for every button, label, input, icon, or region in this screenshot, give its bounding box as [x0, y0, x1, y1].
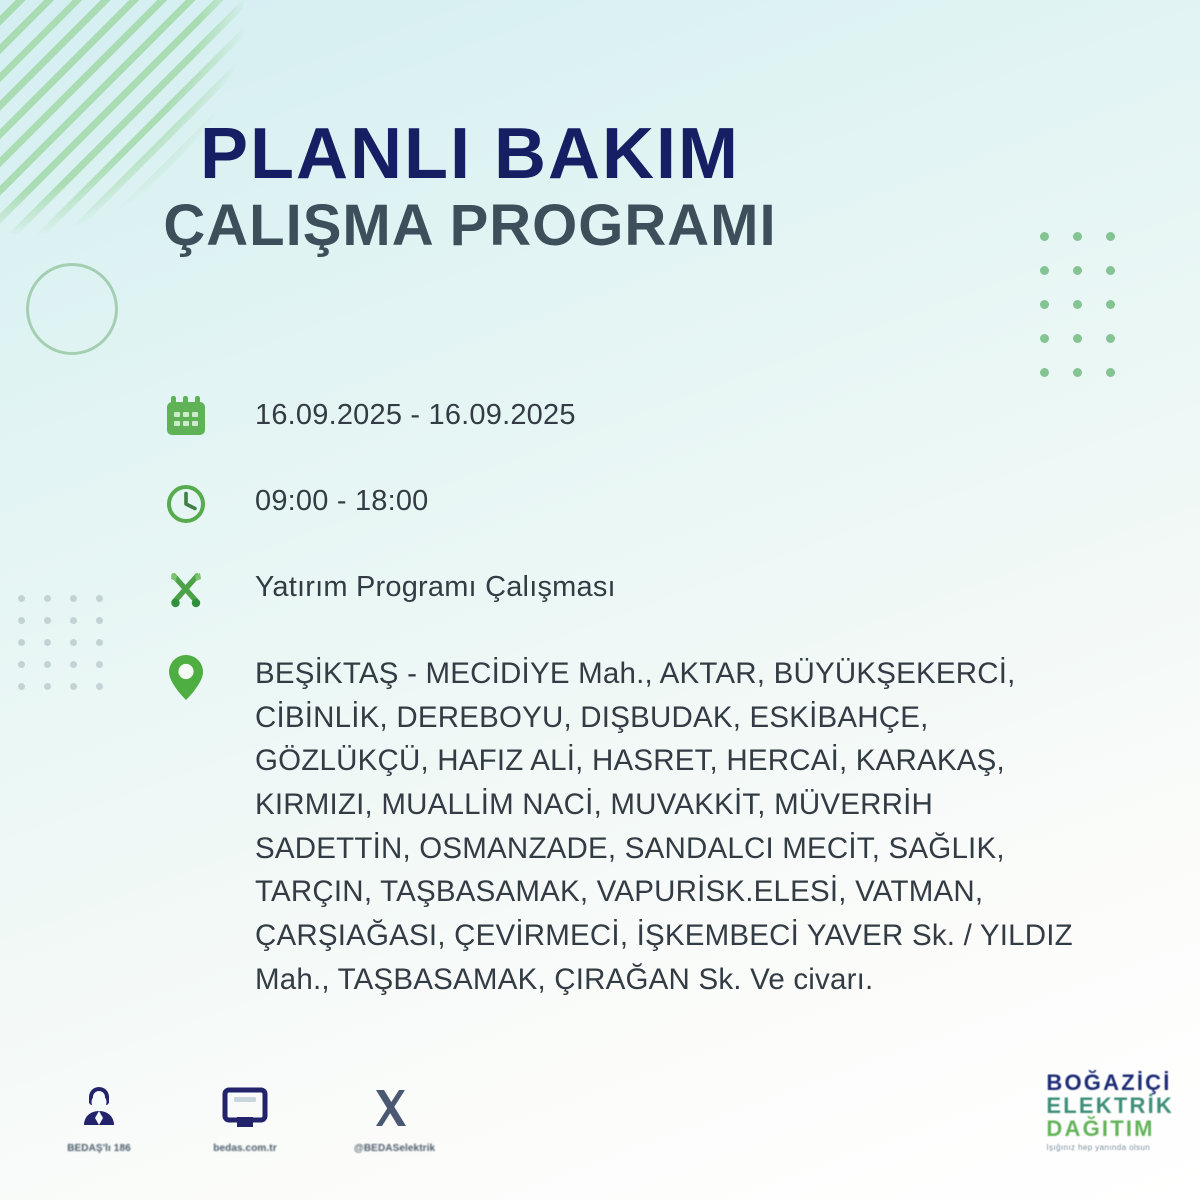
x-twitter-label: @BEDASelektrik	[354, 1143, 428, 1154]
footer: BEDAŞ'lı 186 bedas.com.tr	[0, 1078, 1200, 1200]
circle-outline-decoration	[26, 263, 118, 355]
location-pin-icon	[163, 650, 255, 706]
address-line: ÇARŞIAĞASI, ÇEVİRMECİ, İŞKEMBECİ YAVER S…	[255, 914, 1073, 958]
title-sub-line: ÇALIŞMA PROGRAMI	[0, 197, 940, 255]
address-line: CİBİNLİK, DEREBOYU, DIŞBUDAK, ESKİBAHÇE,	[255, 696, 1073, 740]
contact-website[interactable]: bedas.com.tr	[208, 1082, 282, 1154]
contact-channels: BEDAŞ'lı 186 bedas.com.tr	[62, 1082, 428, 1154]
page-title: PLANLI BAKIM ÇALIŞMA PROGRAMI	[0, 120, 940, 255]
outage-details: 16.09.2025 - 16.09.2025 09:00 - 18:00	[163, 392, 1193, 1001]
detail-row-date: 16.09.2025 - 16.09.2025	[163, 392, 1193, 448]
poster-canvas: PLANLI BAKIM ÇALIŞMA PROGRAMI	[0, 0, 1200, 1200]
detail-row-location: BEŞİKTAŞ - MECİDİYE Mah., AKTAR, BÜYÜKŞE…	[163, 650, 1193, 1001]
work-type-value: Yatırım Programı Çalışması	[255, 564, 616, 602]
address-line: KIRMIZI, MUALLİM NACİ, MUVAKKİT, MÜVERRİ…	[255, 783, 1073, 827]
call-center-person-icon	[62, 1082, 136, 1134]
address-line: GÖZLÜKÇÜ, HAFIZ ALİ, HASRET, HERCAİ, KAR…	[255, 739, 1073, 783]
x-twitter-icon	[354, 1082, 428, 1134]
dot-grid-decoration-left	[18, 595, 122, 705]
dot-grid-decoration-right	[1040, 232, 1139, 402]
title-main-line: PLANLI BAKIM	[0, 120, 940, 189]
time-range-value: 09:00 - 18:00	[255, 478, 429, 516]
tools-icon	[163, 564, 255, 620]
clock-icon	[163, 478, 255, 534]
monitor-screen-icon	[208, 1082, 282, 1134]
brand-line-elektrik: ELEKTRİK	[1046, 1095, 1174, 1118]
address-line: TARÇIN, TAŞBASAMAK, VAPURİSK.ELESİ, VATM…	[255, 870, 1073, 914]
date-range-value: 16.09.2025 - 16.09.2025	[255, 392, 576, 430]
location-address: BEŞİKTAŞ - MECİDİYE Mah., AKTAR, BÜYÜKŞE…	[255, 650, 1073, 1001]
contact-x-twitter[interactable]: @BEDASelektrik	[354, 1082, 428, 1154]
calendar-icon	[163, 392, 255, 448]
contact-call-center[interactable]: BEDAŞ'lı 186	[62, 1082, 136, 1154]
brand-line-dagitim: DAĞITIM	[1046, 1118, 1174, 1141]
address-line: Mah., TAŞBASAMAK, ÇIRAĞAN Sk. Ve civarı.	[255, 958, 1073, 1002]
call-center-label: BEDAŞ'lı 186	[62, 1143, 136, 1154]
detail-row-time: 09:00 - 18:00	[163, 478, 1193, 534]
brand-tagline: Işığınız hep yanında olsun	[1046, 1144, 1174, 1152]
brand-line-bogazici: BOĞAZİÇİ	[1046, 1072, 1174, 1095]
detail-row-work-type: Yatırım Programı Çalışması	[163, 564, 1193, 620]
website-label: bedas.com.tr	[208, 1143, 282, 1154]
bedas-logo: BOĞAZİÇİ ELEKTRİK DAĞITIM Işığınız hep y…	[1046, 1072, 1174, 1152]
address-line: BEŞİKTAŞ - MECİDİYE Mah., AKTAR, BÜYÜKŞE…	[255, 652, 1073, 696]
address-line: SADETTİN, OSMANZADE, SANDALCI MECİT, SAĞ…	[255, 827, 1073, 871]
